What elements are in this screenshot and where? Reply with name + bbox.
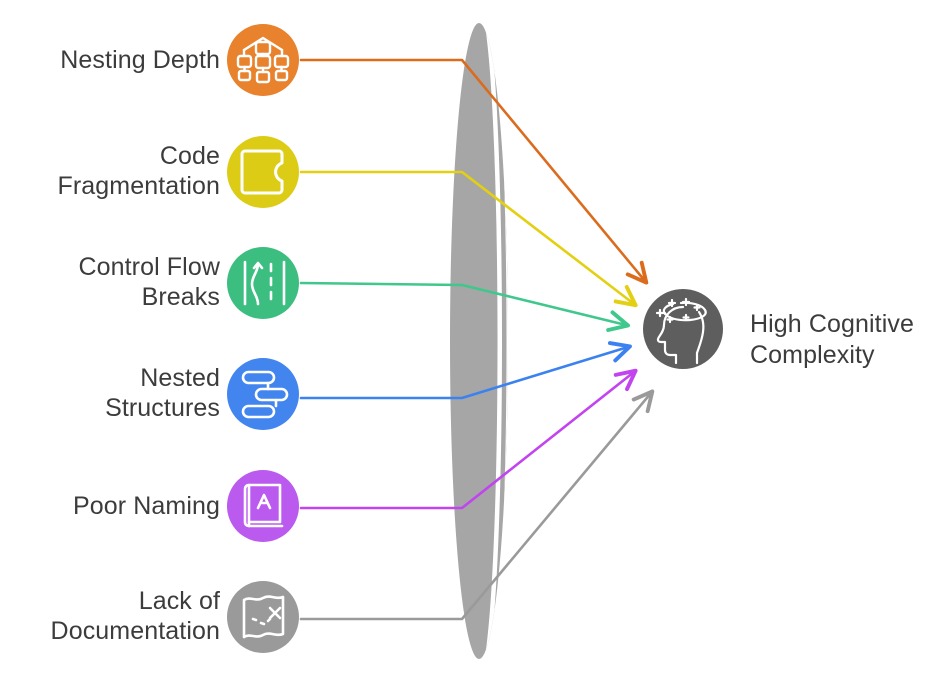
label-poor-naming: Poor Naming: [40, 491, 220, 521]
label-nested-structures: Nested Structures: [20, 363, 220, 423]
poor-naming-circle: [227, 470, 299, 542]
label-code-fragmentation: Code Fragmentation: [20, 141, 220, 201]
node-control-flow-breaks[interactable]: [227, 247, 299, 319]
label-control-flow-breaks: Control Flow Breaks: [20, 252, 220, 312]
control-flow-breaks-circle: [227, 247, 299, 319]
node-lack-of-documentation[interactable]: [227, 581, 299, 653]
code-fragmentation-circle: [227, 136, 299, 208]
label-high-cognitive-complexity: High Cognitive Complexity: [750, 309, 950, 371]
diagram-canvas: Nesting Depth Code Fragmentation Control…: [0, 0, 950, 685]
lack-of-documentation-circle: [227, 581, 299, 653]
central-lens: [450, 23, 515, 659]
node-nesting-depth[interactable]: [227, 24, 299, 96]
label-nesting-depth: Nesting Depth: [40, 45, 220, 75]
node-high-cognitive-complexity[interactable]: [643, 289, 723, 369]
label-lack-of-documentation: Lack of Documentation: [10, 586, 220, 646]
node-poor-naming[interactable]: [227, 470, 299, 542]
node-nested-structures[interactable]: [227, 358, 299, 430]
node-code-fragmentation[interactable]: [227, 136, 299, 208]
